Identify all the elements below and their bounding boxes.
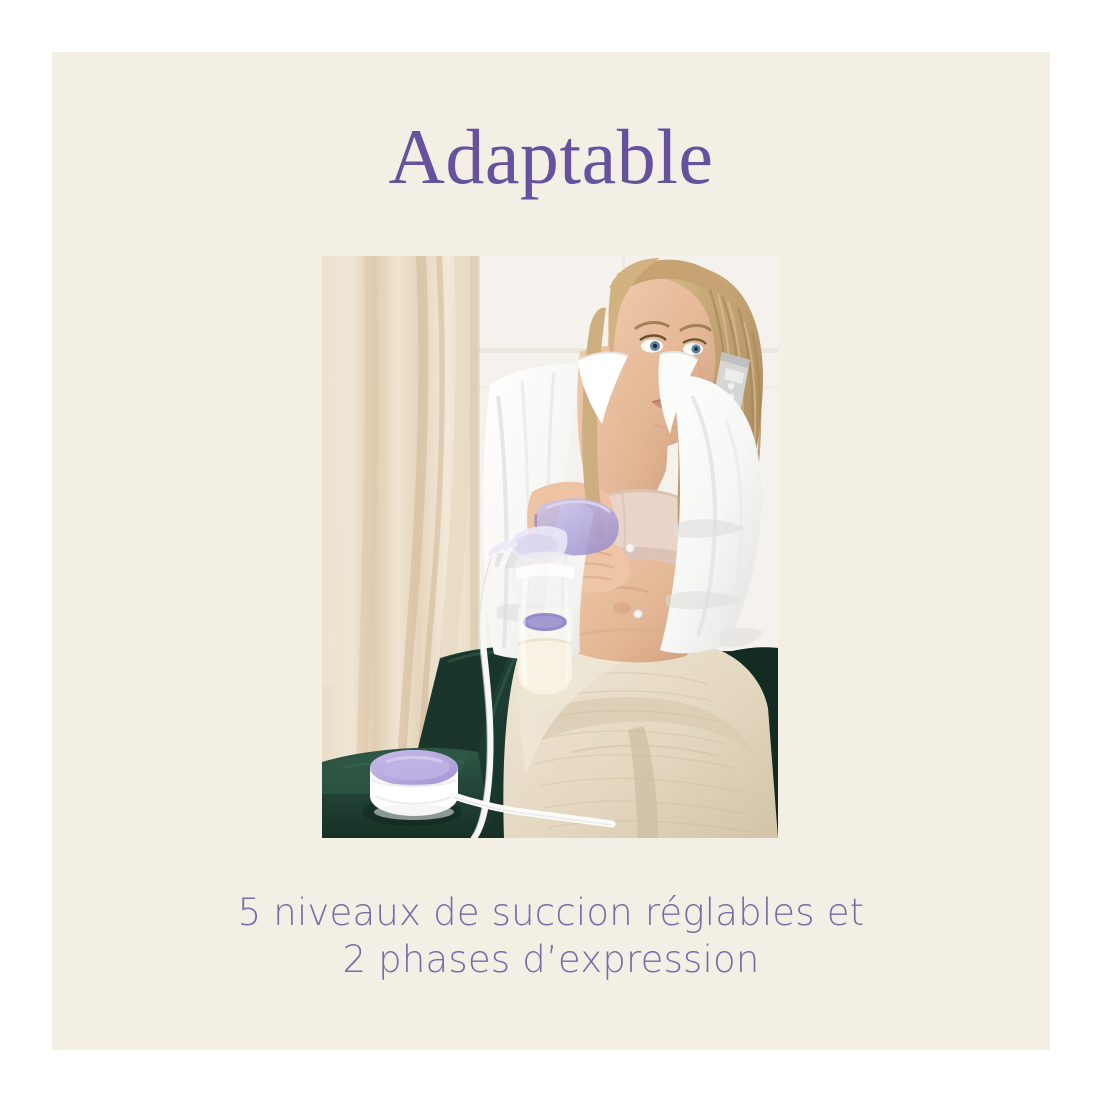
product-feature-card: Adaptable (0, 0, 1100, 1100)
caption-line-2: 2 phases d’expression (52, 937, 1050, 984)
feature-caption: 5 niveaux de succion réglables et 2 phas… (52, 890, 1050, 983)
product-lifestyle-photo (322, 256, 778, 838)
page-title: Adaptable (52, 118, 1050, 196)
cream-panel: Adaptable (52, 52, 1050, 1050)
milk-bottle (511, 552, 579, 695)
caption-line-1: 5 niveaux de succion réglables et (52, 890, 1050, 937)
